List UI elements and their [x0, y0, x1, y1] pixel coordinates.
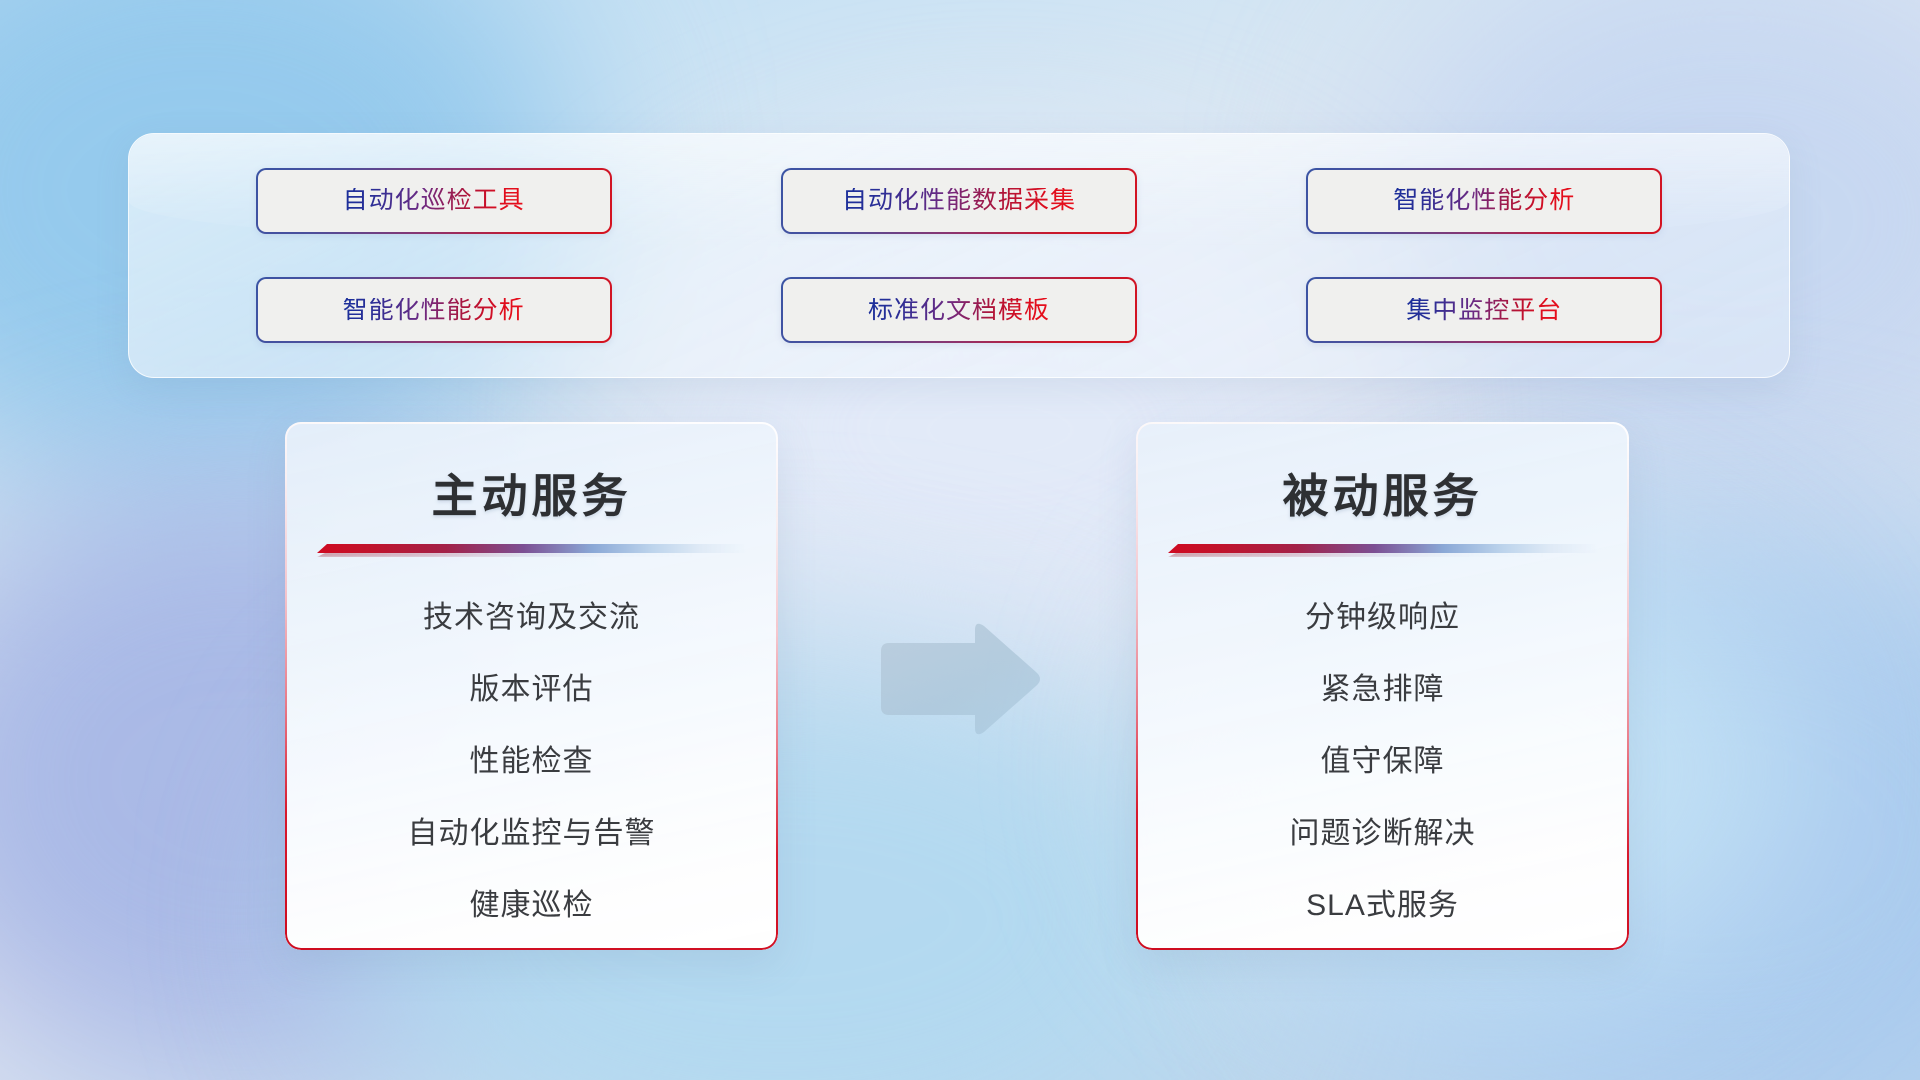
capability-chip-intelligent-performance-analysis-2[interactable]: 智能化性能分析 — [256, 277, 612, 343]
list-item: 性能检查 — [285, 726, 778, 798]
card-title: 被动服务 — [1136, 460, 1629, 526]
service-card-proactive[interactable]: 主动服务 技术咨询及交流 版本评估 性能检查 自动化监控与告警 健康巡检 — [285, 422, 778, 950]
chip-inner: 智能化性能分析 — [258, 279, 610, 341]
divider-bar — [317, 544, 747, 553]
list-item: 问题诊断解决 — [1136, 798, 1629, 870]
list-item: 分钟级响应 — [1136, 582, 1629, 654]
chip-inner: 智能化性能分析 — [1308, 170, 1660, 232]
capability-chip-standardized-doc-template[interactable]: 标准化文档模板 — [781, 277, 1137, 343]
chip-grid: 自动化巡检工具 自动化性能数据采集 智能化性能分析 智能化性能分析 — [129, 134, 1789, 377]
service-card-reactive[interactable]: 被动服务 分钟级响应 紧急排障 值守保障 问题诊断解决 SLA式服务 — [1136, 422, 1629, 950]
chip-inner: 标准化文档模板 — [783, 279, 1135, 341]
divider-bar — [1168, 544, 1598, 553]
chip-inner: 集中监控平台 — [1308, 279, 1660, 341]
capability-chip-intelligent-performance-analysis-1[interactable]: 智能化性能分析 — [1306, 168, 1662, 234]
service-list: 技术咨询及交流 版本评估 性能检查 自动化监控与告警 健康巡检 — [285, 582, 778, 942]
list-item: 版本评估 — [285, 654, 778, 726]
chip-label: 自动化性能数据采集 — [842, 188, 1076, 213]
list-item: SLA式服务 — [1136, 870, 1629, 942]
capability-chip-centralized-monitoring-platform[interactable]: 集中监控平台 — [1306, 277, 1662, 343]
list-item: 紧急排障 — [1136, 654, 1629, 726]
chip-label: 集中监控平台 — [1406, 298, 1562, 323]
list-item: 技术咨询及交流 — [285, 582, 778, 654]
capability-chip-automated-performance-collection[interactable]: 自动化性能数据采集 — [781, 168, 1137, 234]
capability-chip-panel: 自动化巡检工具 自动化性能数据采集 智能化性能分析 智能化性能分析 — [128, 133, 1790, 378]
chip-label: 标准化文档模板 — [868, 298, 1050, 323]
arrow-right-icon — [875, 620, 1043, 738]
card-title-divider — [317, 542, 747, 558]
list-item: 值守保障 — [1136, 726, 1629, 798]
diagram-canvas: 自动化巡检工具 自动化性能数据采集 智能化性能分析 智能化性能分析 — [0, 0, 1920, 1080]
service-list: 分钟级响应 紧急排障 值守保障 问题诊断解决 SLA式服务 — [1136, 582, 1629, 942]
card-title-divider — [1168, 542, 1598, 558]
chip-label: 智能化性能分析 — [1393, 188, 1575, 213]
chip-label: 智能化性能分析 — [343, 298, 525, 323]
list-item: 健康巡检 — [285, 870, 778, 942]
card-title: 主动服务 — [285, 460, 778, 526]
capability-chip-automated-inspection-tool[interactable]: 自动化巡检工具 — [256, 168, 612, 234]
list-item: 自动化监控与告警 — [285, 798, 778, 870]
chip-label: 自动化巡检工具 — [343, 188, 525, 213]
chip-inner: 自动化性能数据采集 — [783, 170, 1135, 232]
chip-inner: 自动化巡检工具 — [258, 170, 610, 232]
